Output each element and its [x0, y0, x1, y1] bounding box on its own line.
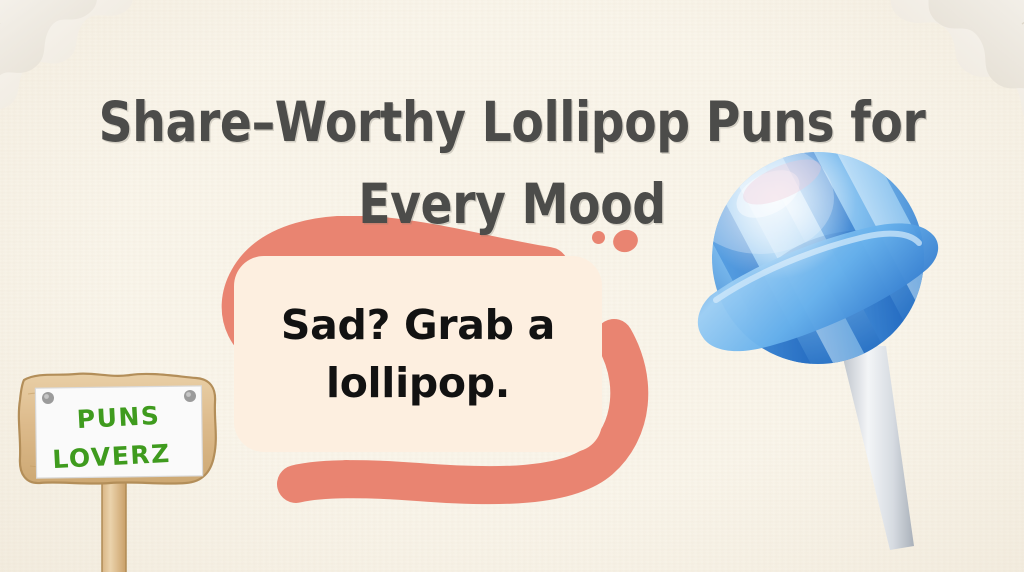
quote-text: Sad? Grab a lollipop. — [234, 296, 602, 412]
poster-canvas: Share–Worthy Lollipop Puns for Every Moo… — [0, 0, 1024, 572]
coral-dot-large-bottom — [333, 460, 360, 487]
sign-line-2: LOVERZ — [52, 439, 172, 474]
sign-line-1: PUNS — [76, 401, 161, 434]
page-title-line-2: Every Mood — [72, 163, 953, 245]
quote-card: Sad? Grab a lollipop. — [234, 256, 602, 452]
puns-loverz-sign: PUNS LOVERZ — [14, 364, 224, 572]
page-title-line-1: Share–Worthy Lollipop Puns for — [99, 90, 926, 154]
page-title: Share–Worthy Lollipop Puns for Every Moo… — [72, 81, 953, 245]
